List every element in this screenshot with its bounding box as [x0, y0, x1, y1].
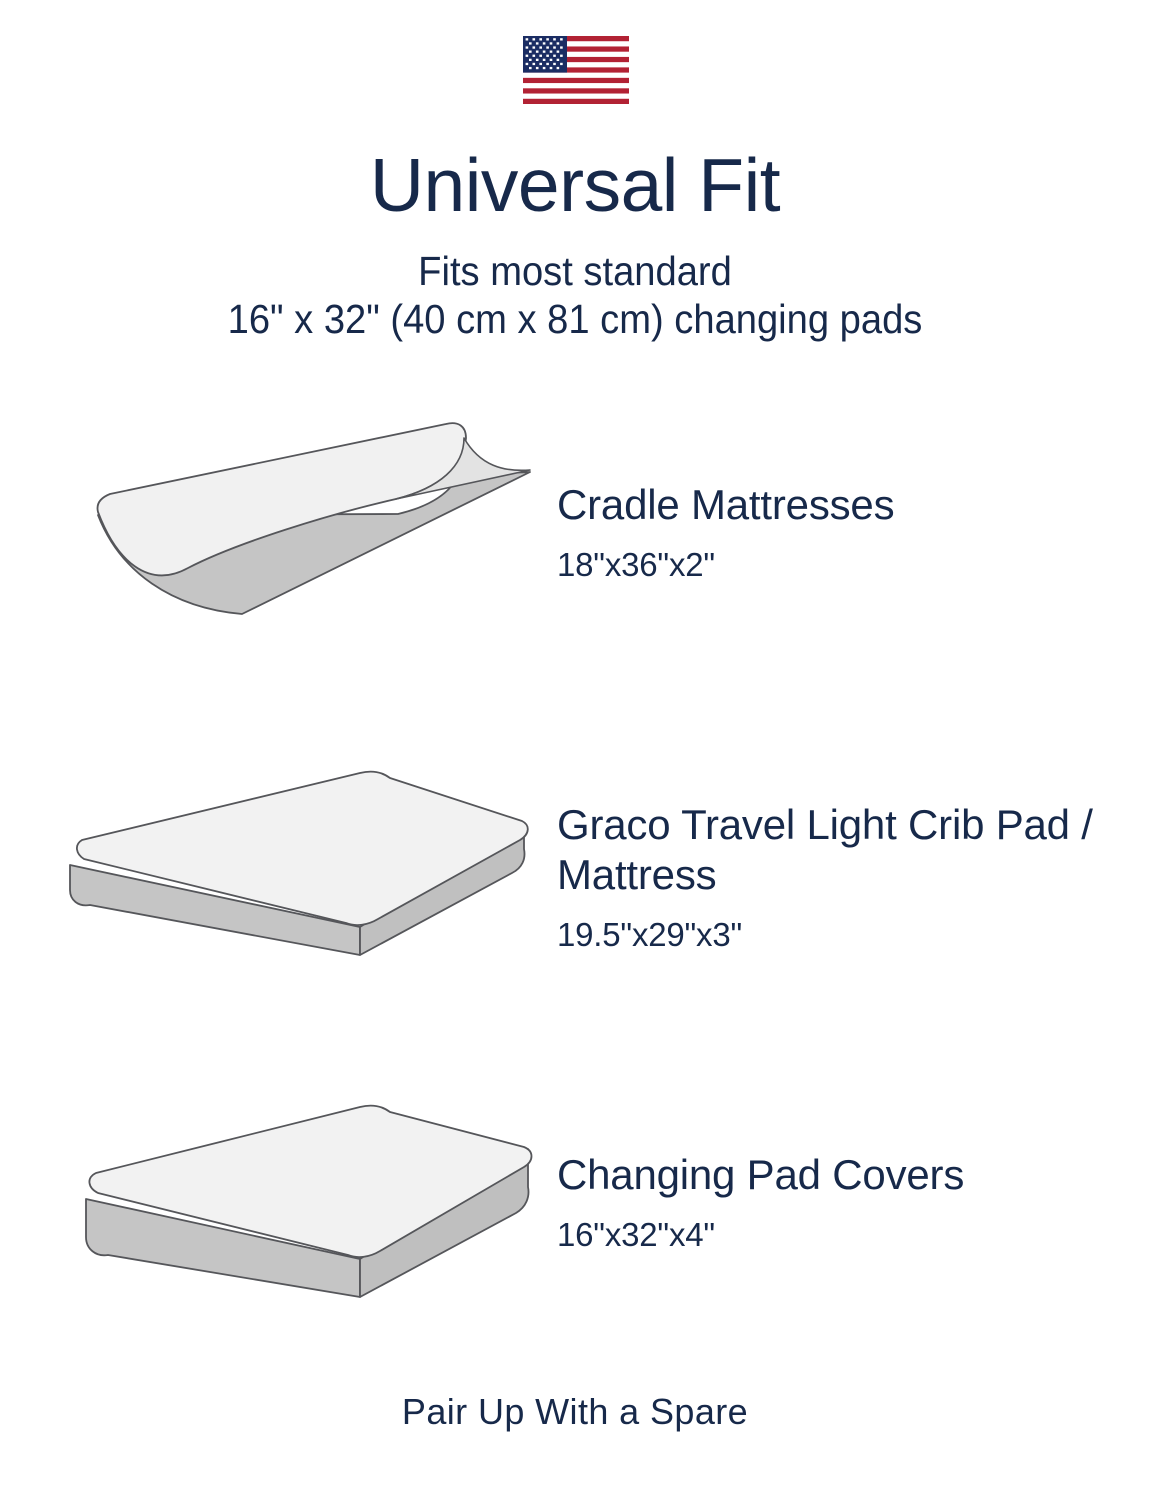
footer-tagline: Pair Up With a Spare — [0, 1389, 1150, 1435]
us-flag-icon — [523, 36, 629, 104]
product-text: Cradle Mattresses 18"x36"x2" — [557, 480, 1117, 586]
thick-mattress-illustration — [60, 1095, 540, 1310]
contoured-changing-pad-illustration — [60, 400, 540, 625]
page-title: Universal Fit — [0, 143, 1150, 227]
flat-mattress-illustration — [60, 755, 540, 970]
product-name: Cradle Mattresses — [557, 480, 1117, 530]
subtitle-line-2: 16" x 32" (40 cm x 81 cm) changing pads — [40, 295, 1110, 343]
product-text: Changing Pad Covers 16"x32"x4" — [557, 1150, 1117, 1256]
product-dimensions: 18"x36"x2" — [557, 544, 1117, 586]
product-dimensions: 19.5"x29"x3" — [557, 914, 1117, 956]
subtitle: Fits most standard 16" x 32" (40 cm x 81… — [0, 247, 1150, 343]
product-dimensions: 16"x32"x4" — [557, 1214, 1117, 1256]
product-name: Graco Travel Light Crib Pad / Mattress — [557, 800, 1117, 900]
subtitle-line-1: Fits most standard — [40, 247, 1110, 295]
product-text: Graco Travel Light Crib Pad / Mattress 1… — [557, 800, 1117, 956]
product-name: Changing Pad Covers — [557, 1150, 1117, 1200]
